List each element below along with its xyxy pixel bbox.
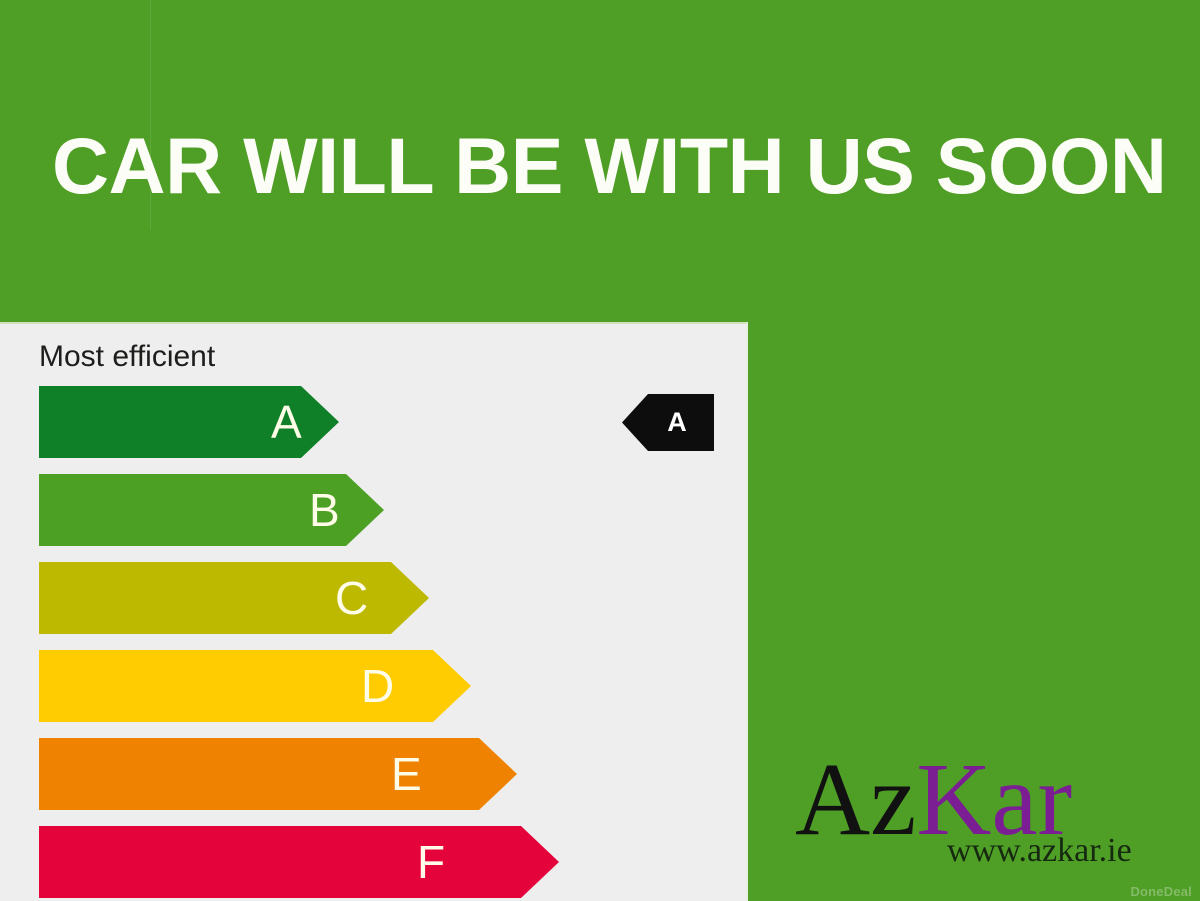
energy-rating-bar-shape [39, 650, 471, 722]
logo-website-url: www.azkar.ie [947, 834, 1132, 868]
energy-rating-bar-shape [39, 474, 384, 546]
page-title: CAR WILL BE WITH US SOON [52, 118, 1172, 214]
energy-rating-panel: Most efficient ABCDEF A [0, 322, 748, 901]
energy-rating-bar-shape [39, 386, 339, 458]
energy-rating-bar: D [39, 650, 599, 722]
energy-rating-bar: A [39, 386, 599, 458]
azkar-logo[interactable]: AzKar www.azkar.ie [795, 748, 1135, 878]
energy-rating-bar-list: ABCDEF [39, 386, 599, 901]
energy-rating-bar: E [39, 738, 599, 810]
energy-rating-bar: F [39, 826, 599, 898]
energy-rating-bar-shape [39, 562, 429, 634]
panel-title: Most efficient [39, 340, 215, 374]
screenshot-root: CAR WILL BE WITH US SOON Most efficient … [0, 0, 1200, 901]
logo-text-az: Az [795, 742, 916, 857]
watermark: DoneDeal [1130, 884, 1192, 899]
energy-rating-bar-shape [39, 738, 517, 810]
energy-rating-bar-shape [39, 826, 559, 898]
current-rating-letter: A [622, 394, 714, 451]
energy-rating-bar: B [39, 474, 599, 546]
energy-rating-bar: C [39, 562, 599, 634]
current-rating-badge: A [622, 394, 714, 451]
